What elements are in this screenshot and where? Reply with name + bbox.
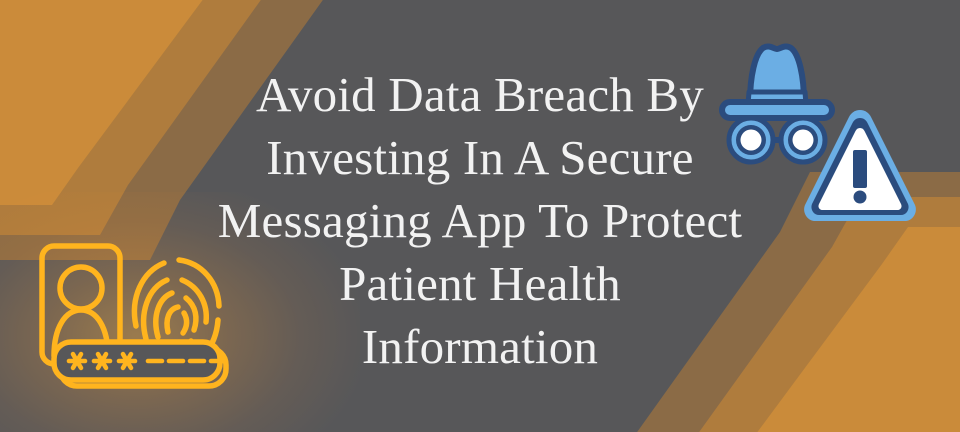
headline-line-3: Messaging App To Protect bbox=[218, 189, 742, 252]
headline-line-4: Patient Health bbox=[339, 252, 621, 315]
headline-line-2: Investing In A Secure bbox=[266, 126, 693, 189]
headline-line-5: Information bbox=[362, 315, 598, 378]
article-banner: Avoid Data Breach By Investing In A Secu… bbox=[0, 0, 960, 432]
headline-line-1: Avoid Data Breach By bbox=[256, 63, 704, 126]
page-title: Avoid Data Breach By Investing In A Secu… bbox=[0, 0, 960, 432]
